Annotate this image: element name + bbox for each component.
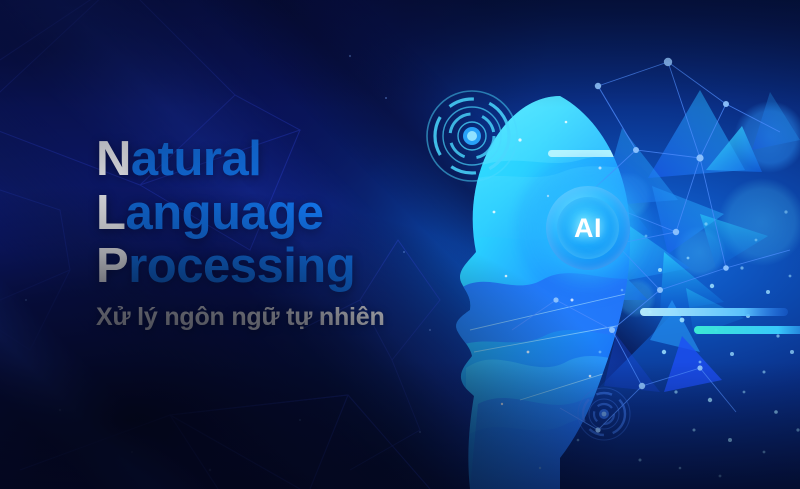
headline-line-3-rest: rocessing: [128, 239, 355, 293]
ai-badge-ring: AI: [546, 186, 630, 270]
ai-badge: AI: [546, 186, 630, 270]
headline-line-1-cap: N: [96, 132, 131, 186]
headline-line-1-rest: atural: [131, 132, 261, 186]
nlp-banner: AI Natural Language Processing Xử lý ngô…: [0, 0, 800, 489]
headline-block: Natural Language Processing Xử lý ngôn n…: [96, 135, 385, 329]
headline-line-2-cap: L: [96, 186, 125, 240]
concentric-hud-ring-icon: [576, 386, 632, 442]
ai-badge-inner: AI: [557, 197, 619, 259]
ai-badge-label: AI: [574, 213, 602, 244]
headline-line-2-rest: anguage: [125, 186, 323, 240]
headline-line-3: Processing: [96, 242, 385, 291]
headline-line-2: Language: [96, 189, 385, 238]
headline-line-3-cap: P: [96, 239, 128, 293]
headline-line-1: Natural: [96, 135, 385, 184]
headline-subtitle: Xử lý ngôn ngữ tự nhiên: [96, 305, 385, 330]
concentric-hud-ring-icon: [424, 88, 520, 184]
